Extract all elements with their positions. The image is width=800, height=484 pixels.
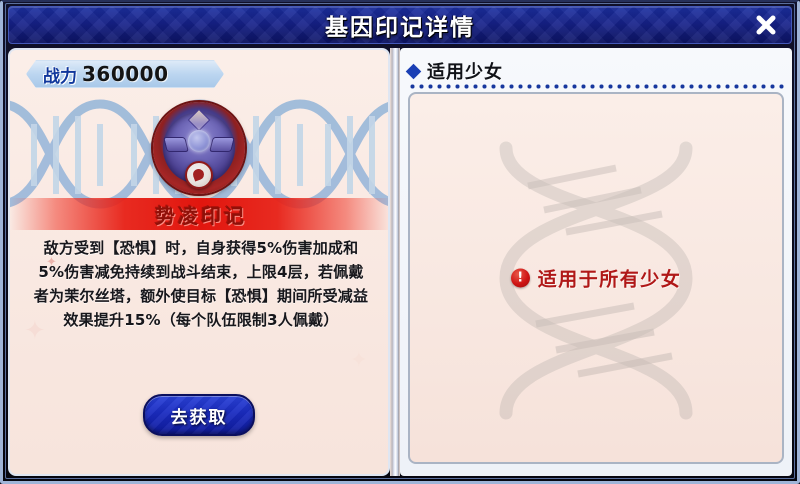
- applicable-notice-text: 适用于所有少女: [538, 265, 682, 292]
- battle-power-value: 360000: [82, 62, 169, 86]
- dialog-content: 战力 360000 势凌印记 ✦ ✦ ✦ 敌方受到【恐惧】时，自身获得5%伤害: [8, 48, 792, 476]
- mark-description: 敌方受到【恐惧】时，自身获得5%伤害加成和5%伤害减免持续到战斗结束，上限4层，…: [32, 236, 370, 332]
- acquire-button[interactable]: 去获取: [143, 394, 255, 436]
- applicable-girls-panel: 适用少女: [400, 48, 792, 476]
- emblem-wing-right: [209, 137, 235, 152]
- header-dotted-rule: [408, 84, 784, 89]
- applicable-notice: ! 适用于所有少女: [410, 265, 782, 292]
- applicable-girls-header: 适用少女: [408, 58, 784, 84]
- applicable-girls-title: 适用少女: [427, 58, 503, 84]
- emblem-core-orb: [188, 130, 210, 152]
- gene-mark-emblem-icon: [153, 102, 245, 194]
- battle-power-label: 战力: [43, 62, 77, 87]
- mark-name-banner: 势凌印记: [10, 198, 390, 230]
- emblem-wing-left: [163, 137, 189, 152]
- exclamation-icon: !: [511, 269, 530, 288]
- panel-divider: [390, 48, 400, 476]
- emblem-gem-icon: [185, 161, 213, 189]
- close-button[interactable]: [749, 8, 783, 42]
- mark-detail-panel: 战力 360000 势凌印记 ✦ ✦ ✦ 敌方受到【恐惧】时，自身获得5%伤害: [8, 48, 390, 476]
- applicable-girls-box: ! 适用于所有少女: [408, 92, 784, 464]
- title-bar: 基因印记详情: [8, 6, 792, 44]
- battle-power-badge: 战力 360000: [26, 60, 224, 88]
- close-x-icon: [754, 13, 778, 37]
- dialog-title: 基因印记详情: [9, 8, 791, 42]
- acquire-button-label: 去获取: [171, 403, 228, 428]
- diamond-bullet-icon: [406, 63, 422, 79]
- mark-name: 势凌印记: [155, 200, 247, 229]
- sparkle-decor-icon: ✦: [350, 350, 368, 372]
- battle-power-label-text: 战力: [43, 67, 77, 87]
- gene-mark-detail-dialog: 基因印记详情: [0, 0, 800, 484]
